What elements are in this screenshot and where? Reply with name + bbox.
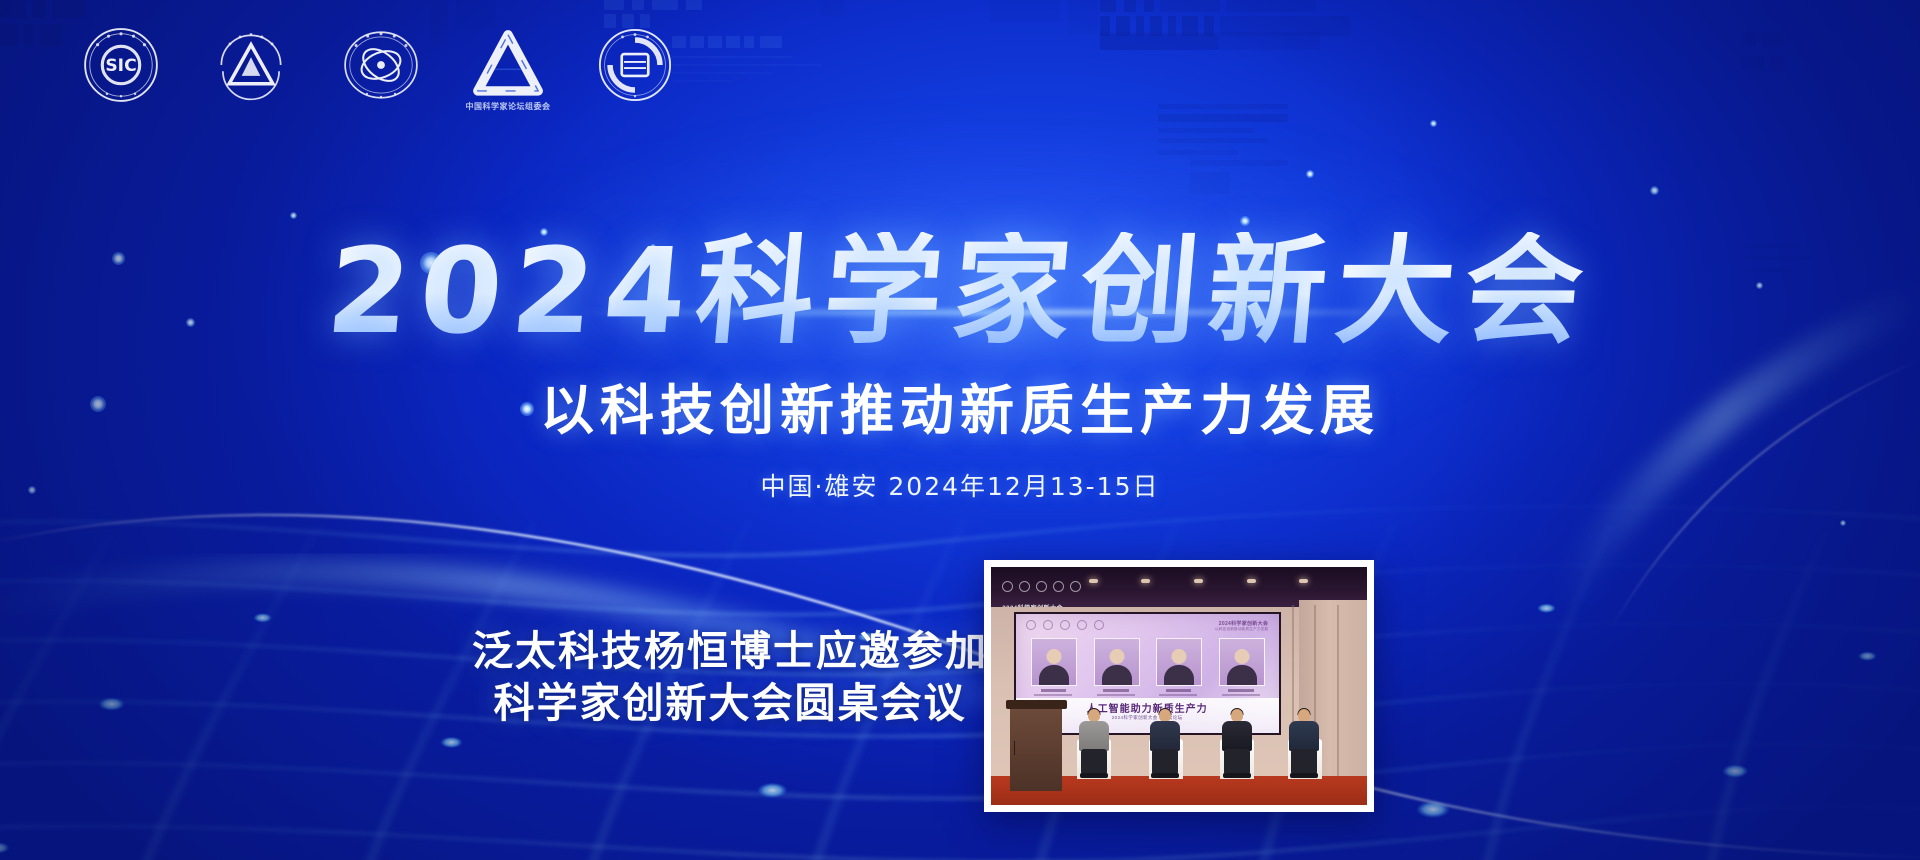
triangle-seal-logo xyxy=(212,26,290,104)
headline-line-2: 科学家创新大会圆桌会议 xyxy=(470,677,990,729)
photo-panelist-1 xyxy=(1074,709,1114,779)
announcement-headline: 泛太科技杨恒博士应邀参加 科学家创新大会圆桌会议 xyxy=(470,625,990,730)
photo-podium xyxy=(1010,705,1063,791)
triangle-mark-logo: 中国科学家论坛组委会 xyxy=(472,29,544,101)
conference-poster: SIC xyxy=(0,0,1920,860)
portrait-1 xyxy=(1031,638,1075,700)
event-photo-content: 2024科学家创新大会 2024科学家创新大会 以科技创新推动新质生产力发展 人… xyxy=(991,567,1367,805)
organizer-logo-bar: SIC xyxy=(82,26,674,104)
hero-title-block: 2024科学家创新大会 以科技创新推动新质生产力发展 中国·雄安 2024年12… xyxy=(0,232,1920,499)
main-title: 2024科学家创新大会 xyxy=(315,232,1606,350)
portrait-2 xyxy=(1094,638,1138,700)
photo-panelist-3 xyxy=(1217,709,1257,779)
svg-text:SIC: SIC xyxy=(105,56,136,76)
sic-seal-logo: SIC xyxy=(82,26,160,104)
photo-panelist-2 xyxy=(1145,709,1185,779)
photo-screen-portraits xyxy=(1031,638,1263,700)
headline-line-1: 泛太科技杨恒博士应邀参加 xyxy=(470,625,990,677)
photo-screen-header-sub: 以科技创新推动新质生产力发展 xyxy=(1215,627,1268,632)
triangle-mark-logo-caption: 中国科学家论坛组委会 xyxy=(466,101,551,112)
circular-emblem-logo xyxy=(596,26,674,104)
portrait-4 xyxy=(1219,638,1263,700)
photo-ceiling-logos xyxy=(1002,581,1081,592)
event-photo: 2024科学家创新大会 2024科学家创新大会 以科技创新推动新质生产力发展 人… xyxy=(984,560,1374,812)
photo-panelist-4 xyxy=(1284,709,1324,779)
atom-seal-logo xyxy=(342,26,420,104)
portrait-3 xyxy=(1156,638,1200,700)
event-date-location: 中国·雄安 2024年12月13-15日 xyxy=(0,474,1920,499)
sub-title: 以科技创新推动新质生产力发展 xyxy=(0,384,1920,438)
